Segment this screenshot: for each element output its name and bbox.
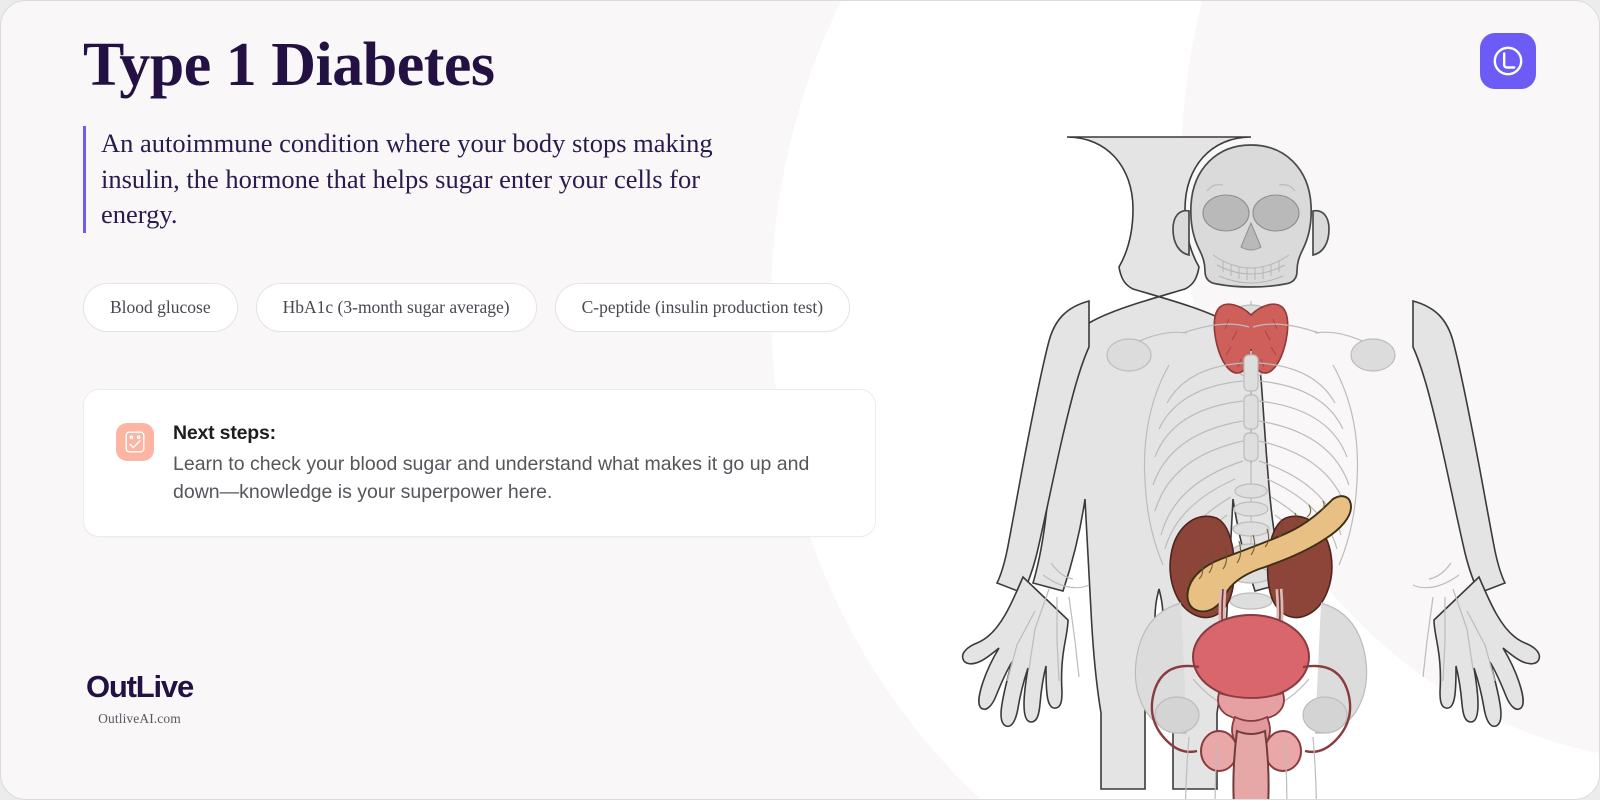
slide-canvas: .body-fill { fill:#e4e4e4; stroke:#3a3a3… — [0, 0, 1600, 800]
chip-hba1c[interactable]: HbA1c (3-month sugar average) — [256, 283, 537, 332]
subtitle-text: An autoimmune condition where your body … — [101, 126, 773, 233]
human-anatomy-illustration: .body-fill { fill:#e4e4e4; stroke:#3a3a3… — [931, 119, 1571, 800]
next-steps-title: Next steps: — [173, 422, 823, 445]
content-column: Type 1 Diabetes An autoimmune condition … — [83, 29, 903, 537]
brand-wordmark: OutLive — [86, 671, 193, 702]
footer-brand-logo: OutLive OutliveAI.com — [86, 671, 193, 727]
subtitle-block: An autoimmune condition where your body … — [83, 126, 773, 233]
app-logo-badge[interactable] — [1480, 33, 1536, 89]
biomarker-chip-list: Blood glucose HbA1c (3-month sugar avera… — [83, 283, 903, 332]
next-steps-description: Learn to check your blood sugar and unde… — [173, 450, 823, 507]
clipboard-check-icon — [116, 423, 154, 461]
chip-c-peptide[interactable]: C-peptide (insulin production test) — [555, 283, 851, 332]
outlive-circle-l-icon — [1491, 44, 1525, 78]
next-steps-card: Next steps: Learn to check your blood su… — [83, 389, 876, 538]
page-title: Type 1 Diabetes — [83, 29, 903, 102]
brand-url: OutliveAI.com — [86, 711, 193, 727]
next-steps-body: Next steps: Learn to check your blood su… — [173, 421, 823, 507]
chip-blood-glucose[interactable]: Blood glucose — [83, 283, 238, 332]
